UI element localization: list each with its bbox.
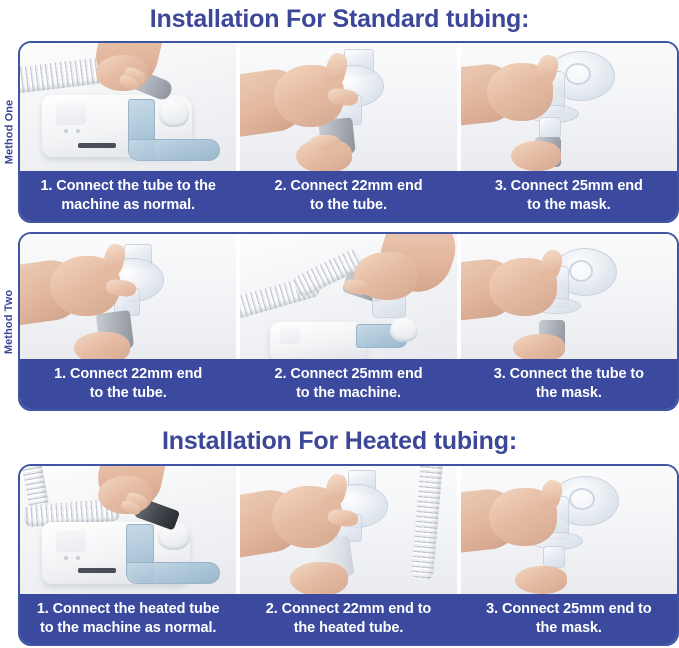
method-one-card: 1. Connect the tube to the machine as no… <box>18 41 679 223</box>
photo-connect-tube-to-machine <box>20 43 236 171</box>
photo-connect-25mm-to-machine <box>240 234 456 359</box>
caption-step: 3. Connect 25mm end to the mask. <box>461 594 677 644</box>
caption-line-1: 3. Connect 25mm end <box>467 177 671 196</box>
caption-line-1: 2. Connect 22mm end to <box>246 600 450 619</box>
caption-line-1: 3. Connect 25mm end to <box>467 600 671 619</box>
method-row-one: Method One <box>0 41 679 223</box>
caption-line-1: 2. Connect 25mm end <box>246 365 450 384</box>
method-two-card: 1. Connect 22mm end to the tube. 2. Conn… <box>18 232 679 411</box>
method-two-label: Method Two <box>3 289 15 353</box>
caption-line-2: to the machine. <box>246 384 450 403</box>
heated-row: 1. Connect the heated tube to the machin… <box>0 464 679 646</box>
method-one-photo-strip <box>20 43 677 171</box>
caption-step: 1. Connect the heated tube to the machin… <box>20 594 236 644</box>
photo-22mm-to-heated-tube <box>240 466 456 594</box>
caption-line-2: machine as normal. <box>26 196 230 215</box>
method-two-label-column: Method Two <box>0 232 18 411</box>
caption-line-2: to the tube. <box>246 196 450 215</box>
photo-hold-mask-with-connector <box>461 234 677 359</box>
method-two-caption-bar: 1. Connect 22mm end to the tube. 2. Conn… <box>20 359 677 409</box>
caption-step: 2. Connect 22mm end to the heated tube. <box>240 594 456 644</box>
method-one-label-column: Method One <box>0 41 18 223</box>
caption-line-1: 2. Connect 22mm end <box>246 177 450 196</box>
heated-caption-bar: 1. Connect the heated tube to the machin… <box>20 594 677 644</box>
photo-connect-25mm-to-mask <box>461 43 677 171</box>
caption-step: 2. Connect 25mm end to the machine. <box>240 359 456 409</box>
infographic-page: Installation For Standard tubing: Method… <box>0 0 679 648</box>
caption-line-2: to the mask. <box>467 196 671 215</box>
section-title-heated: Installation For Heated tubing: <box>0 411 679 454</box>
method-one-caption-bar: 1. Connect the tube to the machine as no… <box>20 171 677 221</box>
photo-25mm-to-mask-heated <box>461 466 677 594</box>
section-title-standard: Installation For Standard tubing: <box>0 0 679 32</box>
caption-line-1: 1. Connect the tube to the <box>26 177 230 196</box>
caption-line-2: to the tube. <box>26 384 230 403</box>
photo-connect-22mm-to-tube <box>240 43 456 171</box>
caption-line-2: the mask. <box>467 619 671 638</box>
caption-line-2: to the machine as normal. <box>26 619 230 638</box>
photo-heated-tube-to-machine <box>20 466 236 594</box>
photo-attach-22mm-connector <box>20 234 236 359</box>
caption-step: 2. Connect 22mm end to the tube. <box>240 171 456 221</box>
method-one-label: Method One <box>3 100 15 165</box>
caption-step: 3. Connect 25mm end to the mask. <box>461 171 677 221</box>
caption-line-1: 1. Connect 22mm end <box>26 365 230 384</box>
caption-step: 1. Connect the tube to the machine as no… <box>20 171 236 221</box>
method-row-two: Method Two <box>0 232 679 411</box>
method-two-photo-strip <box>20 234 677 359</box>
caption-line-1: 1. Connect the heated tube <box>26 600 230 619</box>
caption-step: 3. Connect the tube to the mask. <box>461 359 677 409</box>
caption-line-2: the mask. <box>467 384 671 403</box>
caption-step: 1. Connect 22mm end to the tube. <box>20 359 236 409</box>
caption-line-1: 3. Connect the tube to <box>467 365 671 384</box>
heated-photo-strip <box>20 466 677 594</box>
caption-line-2: the heated tube. <box>246 619 450 638</box>
heated-card: 1. Connect the heated tube to the machin… <box>18 464 679 646</box>
